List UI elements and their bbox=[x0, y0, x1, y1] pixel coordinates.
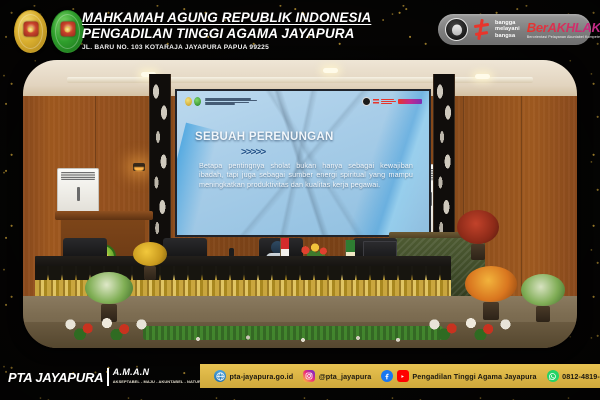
contact-whatsapp[interactable]: 0812-4819-3028 bbox=[547, 370, 600, 382]
plant-foliage bbox=[133, 242, 167, 266]
indonesia-flag bbox=[280, 238, 289, 258]
ceiling-light bbox=[323, 68, 338, 73]
contact-instagram-label: @pta_jayapura bbox=[319, 372, 372, 381]
plant-foliage bbox=[85, 272, 133, 304]
contact-website-label: pta-jayapura.go.id bbox=[230, 372, 294, 381]
slide-body-text: Betapa pentingnya sholat bukan hanya seb… bbox=[199, 161, 413, 189]
youtube-icon bbox=[397, 370, 409, 382]
badge-word-3: bangsa bbox=[495, 33, 520, 39]
slide-pta-emblem bbox=[194, 97, 201, 106]
contact-whatsapp-label: 0812-4819-3028 bbox=[562, 372, 600, 381]
slide-berakhlak-wordmark bbox=[398, 99, 422, 104]
slide-badge-lines bbox=[381, 99, 396, 104]
bangga-melayani-mark-icon bbox=[474, 19, 489, 40]
institution-title-primary: MAHKAMAH AGUNG REPUBLIK INDONESIA bbox=[82, 11, 371, 25]
carved-panel-left bbox=[149, 74, 171, 249]
footer-contact-bar: pta-jayapura.go.id @pta_jayapura Pengadi… bbox=[200, 364, 600, 388]
ceiling-light bbox=[475, 74, 490, 79]
slide-mahkamah-agung-emblem bbox=[185, 97, 192, 106]
footer-brand: PTA JAYAPURA A.M.A.N AKSEPTABEL - MAJU -… bbox=[8, 368, 206, 386]
contact-youtube-label: Pengadilan Tinggi Agama Jayapura bbox=[412, 372, 536, 381]
wall-sconce-light bbox=[133, 163, 145, 171]
mahkamah-agung-emblem bbox=[14, 10, 47, 53]
footer-acronym-block: A.M.A.N AKSEPTABEL - MAJU - AKUNTABEL - … bbox=[113, 368, 207, 386]
berakhlak-wordmark: BerAKHLAK bbox=[527, 20, 600, 35]
whatsapp-icon bbox=[547, 370, 559, 382]
contact-instagram[interactable]: @pta_jayapura bbox=[303, 370, 371, 382]
page-footer: PTA JAYAPURA A.M.A.N AKSEPTABEL - MAJU -… bbox=[0, 352, 600, 400]
event-photo: SEBUAH PERENUNGAN >>>>> Betapa pentingny… bbox=[23, 60, 577, 348]
garuda-seal-icon bbox=[445, 18, 468, 41]
header-titles: MAHKAMAH AGUNG REPUBLIK INDONESIA PENGAD… bbox=[82, 11, 371, 51]
plant-foliage bbox=[457, 210, 499, 244]
plant-right-red bbox=[455, 210, 501, 262]
slide-garuda-seal-icon bbox=[362, 97, 371, 106]
plant-far-right bbox=[519, 274, 567, 324]
slide-bangga-mark-icon bbox=[373, 97, 379, 106]
slide-header-logos bbox=[185, 97, 257, 106]
wall-panel-seam bbox=[521, 96, 522, 296]
slide-chevrons: >>>>> bbox=[241, 147, 265, 158]
contact-social-pages[interactable]: Pengadilan Tinggi Agama Jayapura bbox=[381, 370, 536, 382]
contact-website[interactable]: pta-jayapura.go.id bbox=[214, 370, 293, 382]
plant-pot bbox=[536, 306, 550, 322]
footer-acronym: A.M.A.N bbox=[113, 368, 207, 377]
flower-bed-right bbox=[421, 314, 517, 340]
institution-title-secondary: PENGADILAN TINGGI AGAMA JAYAPURA bbox=[82, 26, 371, 41]
plant-pot bbox=[471, 244, 485, 260]
header-emblems bbox=[14, 10, 84, 53]
slide-berakhlak-badge bbox=[362, 97, 422, 106]
facebook-icon bbox=[381, 370, 393, 382]
slide-title: SEBUAH PERENUNGAN bbox=[195, 131, 334, 143]
projection-screen: SEBUAH PERENUNGAN >>>>> Betapa pentingny… bbox=[175, 89, 431, 237]
flower-bed-left bbox=[57, 314, 153, 340]
pta-jayapura-emblem bbox=[51, 10, 84, 53]
emblem-crest bbox=[60, 22, 75, 37]
plant-pot bbox=[144, 266, 156, 280]
plant-foliage bbox=[465, 266, 517, 302]
badge-brand-block: BerAKHLAK Berorientasi Pelayanan Akuntab… bbox=[527, 20, 600, 39]
instagram-icon bbox=[303, 370, 315, 382]
footer-brand-divider bbox=[107, 368, 108, 386]
plant-left-yellow bbox=[131, 242, 169, 282]
page-header: MAHKAMAH AGUNG REPUBLIK INDONESIA PENGAD… bbox=[0, 0, 600, 58]
footer-acronym-expansion: AKSEPTABEL - MAJU - AKUNTABEL - NATURAL bbox=[113, 377, 207, 386]
podium-top-surface bbox=[55, 211, 153, 220]
decorative-pebbles bbox=[173, 334, 423, 344]
plant-foliage bbox=[521, 274, 565, 306]
carved-panel-right bbox=[433, 74, 455, 249]
berakhlak-tagline: Berorientasi Pelayanan Akuntabel Kompete… bbox=[527, 35, 600, 39]
berakhlak-badge: bangga melayani bangsa BerAKHLAK Berorie… bbox=[438, 14, 591, 45]
slide-header-text-lines bbox=[205, 98, 257, 104]
emblem-crest bbox=[23, 22, 38, 37]
badge-words: bangga melayani bangsa bbox=[495, 20, 520, 39]
globe-icon bbox=[214, 370, 226, 382]
institution-address: JL. BARU NO. 103 KOTARAJA JAYAPURA PAPUA… bbox=[82, 44, 371, 51]
footer-brand-name: PTA JAYAPURA bbox=[8, 370, 103, 385]
